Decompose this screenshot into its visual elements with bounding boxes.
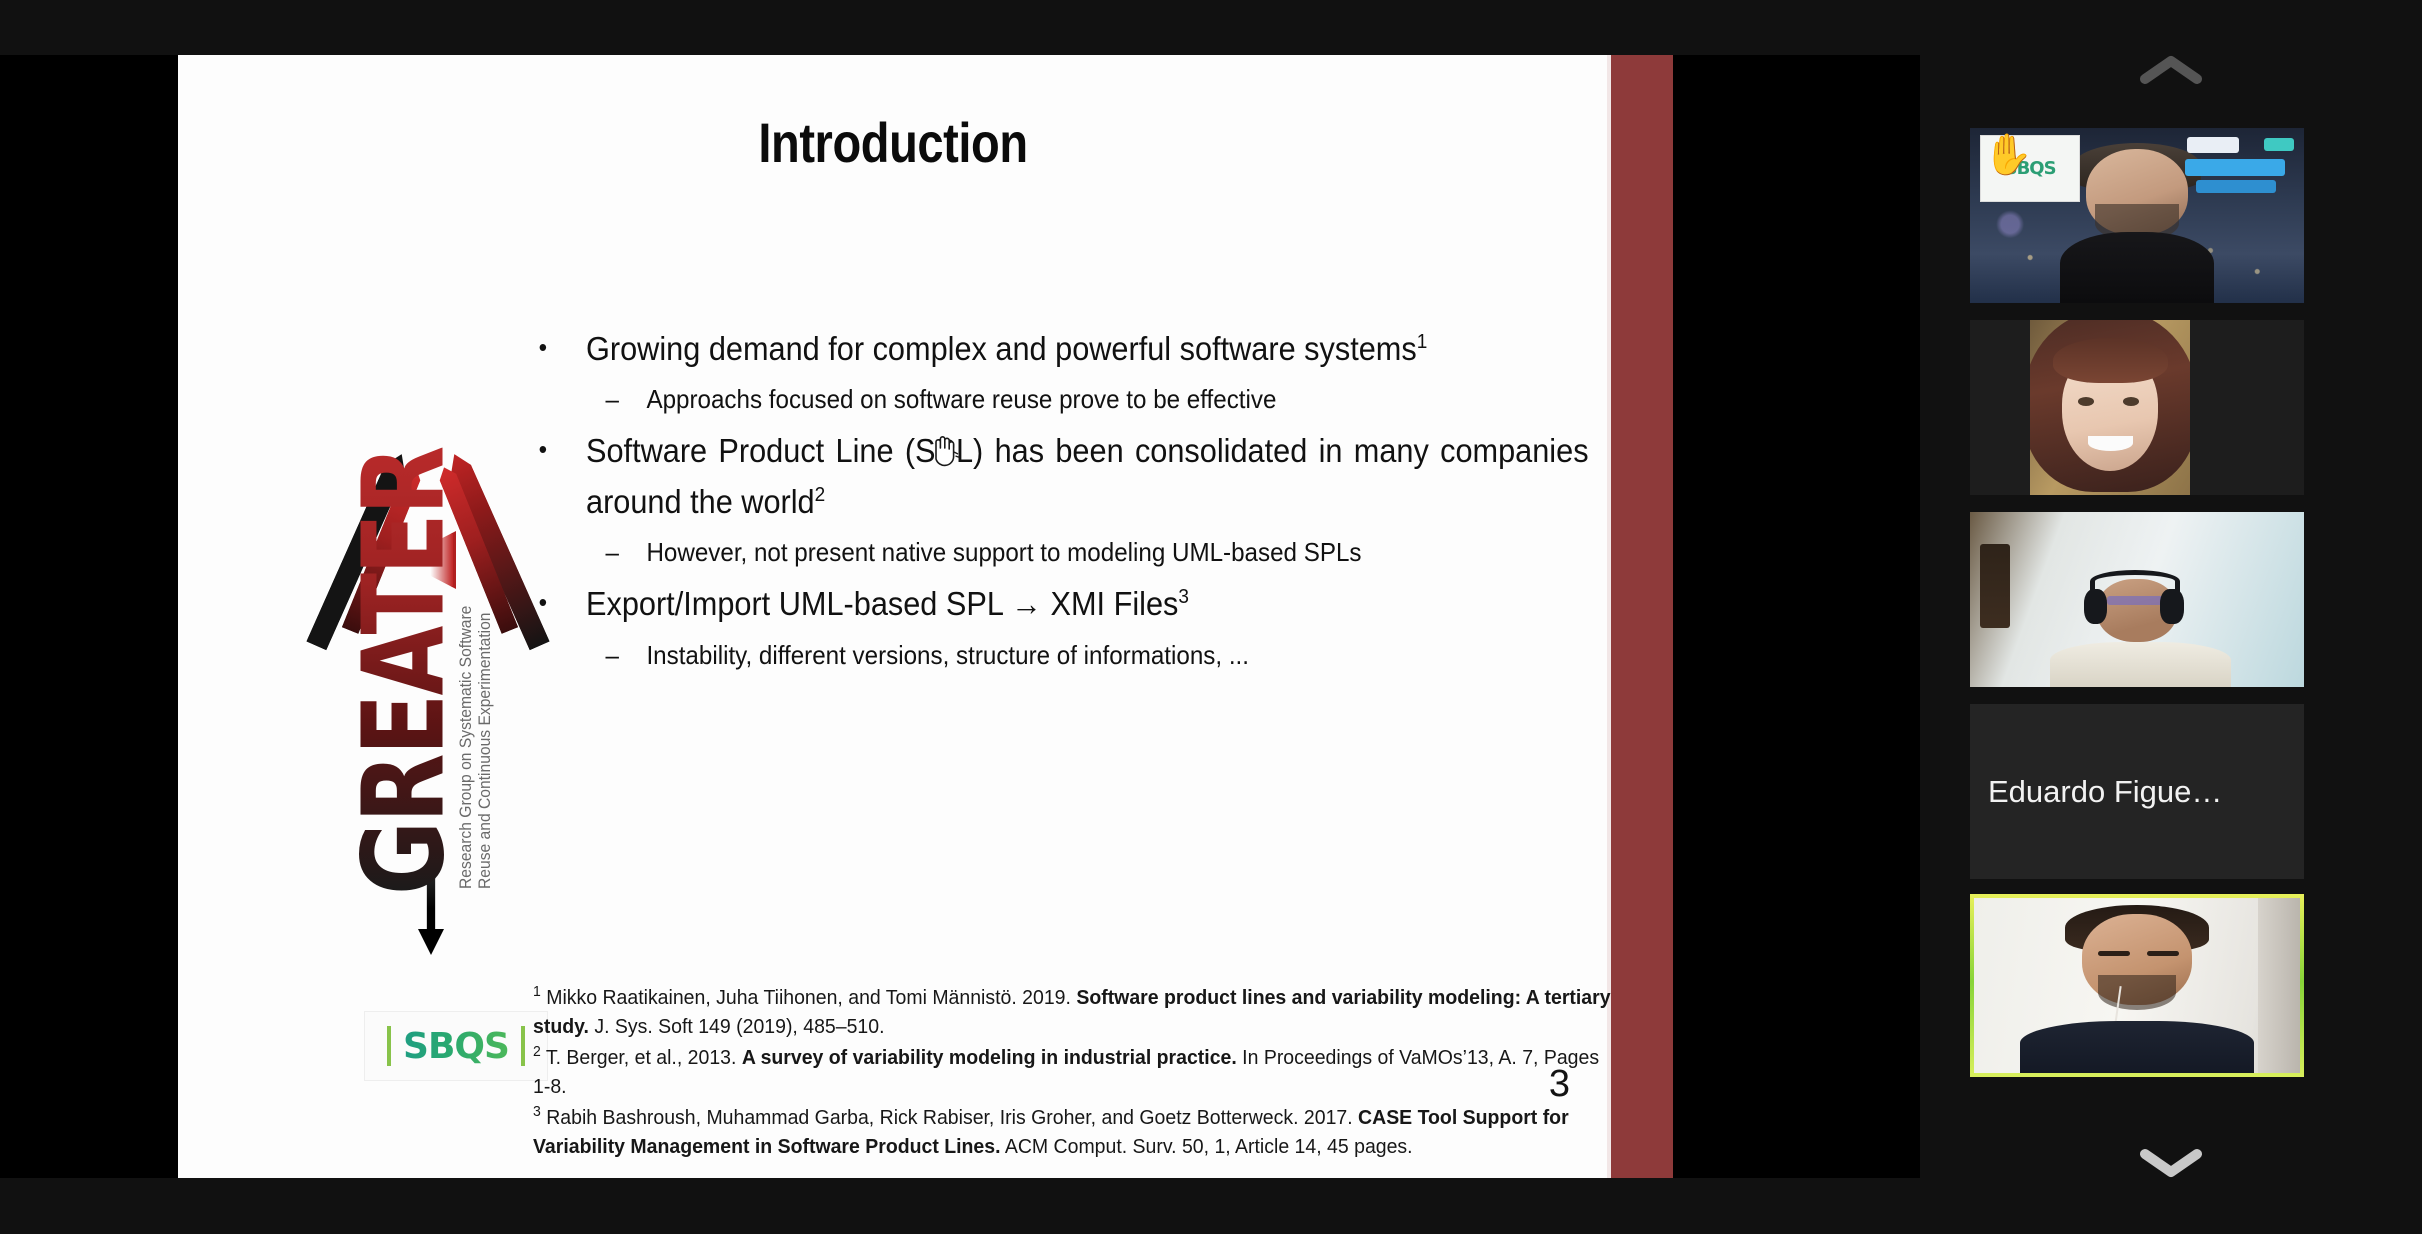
slide-title: Introduction <box>292 110 1493 175</box>
greater-logo-rotated: GREATER Research Group on Systematic Sof… <box>330 425 530 955</box>
footnote-ref: 3 <box>1178 585 1189 608</box>
slide-page-number: 3 <box>1549 1063 1570 1106</box>
sbqs-right-rule <box>521 1026 525 1066</box>
bullet-text: Software Product Line (SPL) has been con… <box>586 425 1589 527</box>
bullet-level2-1: –Approachs focused on software reuse pro… <box>533 380 1589 419</box>
participant-tile-1[interactable]: SBQS ✋ <box>1970 128 2304 303</box>
app-root: Introduction GREATER Research Group on S… <box>0 0 2422 1234</box>
background-logos-overlay <box>2180 137 2294 197</box>
presentation-slide[interactable]: Introduction GREATER Research Group on S… <box>178 55 1673 1178</box>
participant-tile-4[interactable]: Eduardo Figue… <box>1970 704 2304 879</box>
bullet-level2-5: –Instability, different versions, struct… <box>533 636 1589 675</box>
dash-glyph: – <box>606 636 619 675</box>
bullet-glyph: • <box>539 425 547 473</box>
sbqs-left-rule <box>387 1026 391 1066</box>
footnote-ref: 2 <box>815 483 826 506</box>
greater-logo: GREATER Research Group on Systematic Sof… <box>330 425 530 955</box>
bullet-text: However, not present native support to m… <box>646 537 1361 567</box>
bullet-level1-4: •Export/Import UML-based SPL → XMI Files… <box>533 578 1589 629</box>
sbqs-wordmark: SBQS <box>403 1026 509 1067</box>
raised-hand-icon: ✋ <box>1983 135 2033 175</box>
greater-tagline: Research Group on Systematic Software Re… <box>456 606 494 889</box>
bullet-text: Instability, different versions, structu… <box>646 640 1249 670</box>
scroll-up-button[interactable] <box>1920 40 2422 100</box>
greater-wordmark: GREATER <box>338 447 469 895</box>
footnote-marker: 3 <box>533 1104 541 1120</box>
participant-video-3 <box>1970 512 2304 687</box>
bullet-text: Growing demand for complex and powerful … <box>586 330 1427 367</box>
footnote-ref: 1 <box>1417 330 1428 353</box>
participant-tile-5-active-speaker[interactable] <box>1970 894 2304 1077</box>
scroll-down-button[interactable] <box>1920 1132 2422 1192</box>
participant-tile-3[interactable] <box>1970 512 2304 687</box>
slide-footnotes: 1 Mikko Raatikainen, Juha Tiihonen, and … <box>533 982 1616 1162</box>
footnote-1: 1 Mikko Raatikainen, Juha Tiihonen, and … <box>533 982 1616 1041</box>
dash-glyph: – <box>606 380 619 419</box>
bullet-glyph: • <box>539 323 547 371</box>
sbqs-logo: SBQS <box>364 1011 548 1081</box>
greater-tagline-line2: Reuse and Continuous Experimentation <box>475 606 494 889</box>
right-arrow-icon: → <box>1011 585 1042 622</box>
bullet-level2-3: –However, not present native support to … <box>533 533 1589 572</box>
chevron-down-icon <box>2139 1145 2203 1179</box>
chevron-up-icon <box>2139 53 2203 87</box>
participant-video-2 <box>1970 320 2304 495</box>
footnote-2: 2 T. Berger, et al., 2013. A survey of v… <box>533 1042 1616 1101</box>
slide-body: •Growing demand for complex and powerful… <box>533 323 1668 681</box>
participant-name-label: Eduardo Figue… <box>1970 774 2222 810</box>
participant-tile-2[interactable] <box>1970 320 2304 495</box>
bullet-glyph: • <box>539 578 547 626</box>
bullet-level1-0: •Growing demand for complex and powerful… <box>533 323 1589 374</box>
participant-video-1: SBQS ✋ <box>1970 128 2304 303</box>
footnote-title: A survey of variability modeling in indu… <box>742 1046 1237 1069</box>
greater-tagline-line1: Research Group on Systematic Software <box>456 606 475 889</box>
participant-filmstrip: SBQS ✋ <box>1920 0 2422 1234</box>
participant-video-5 <box>1974 898 2300 1073</box>
footnote-marker: 1 <box>533 984 541 1000</box>
bullet-level1-2: •Software Product Line (SPL) has been co… <box>533 425 1589 527</box>
dash-glyph: – <box>606 533 619 572</box>
footnote-3: 3 Rabih Bashroush, Muhammad Garba, Rick … <box>533 1102 1616 1161</box>
footnote-marker: 2 <box>533 1044 541 1060</box>
bullet-text: Export/Import UML-based SPL → XMI Files3 <box>586 585 1189 622</box>
footnote-title: CASE Tool Support for Variability Manage… <box>533 1106 1569 1158</box>
bullet-text: Approachs focused on software reuse prov… <box>646 384 1276 414</box>
footnote-title: Software product lines and variability m… <box>533 986 1611 1038</box>
